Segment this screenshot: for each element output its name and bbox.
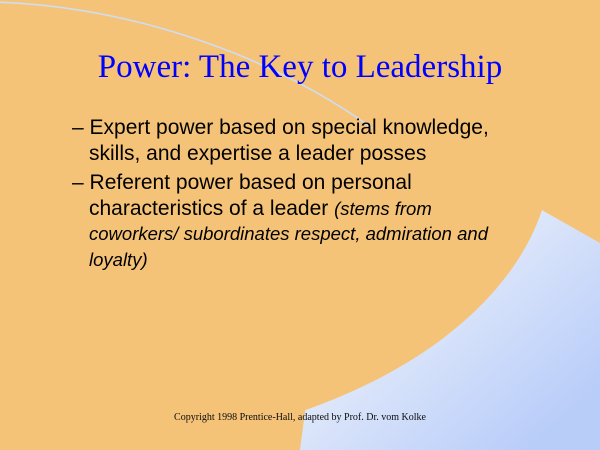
slide-title: Power: The Key to Leadership	[0, 48, 600, 86]
bullet-marker: –	[72, 171, 84, 194]
slide-content: Power: The Key to Leadership – Expert po…	[0, 0, 600, 450]
slide-footer-copyright: Copyright 1998 Prentice-Hall, adapted by…	[0, 411, 600, 424]
list-item: – Expert power based on special knowledg…	[72, 115, 542, 166]
slide-body-list: – Expert power based on special knowledg…	[72, 115, 542, 276]
presentation-slide: Power: The Key to Leadership – Expert po…	[0, 0, 600, 450]
list-item: – Referent power based on personal chara…	[72, 170, 489, 272]
bullet-marker: –	[72, 116, 84, 139]
bullet-text: Expert power based on special knowledge,…	[89, 116, 489, 165]
